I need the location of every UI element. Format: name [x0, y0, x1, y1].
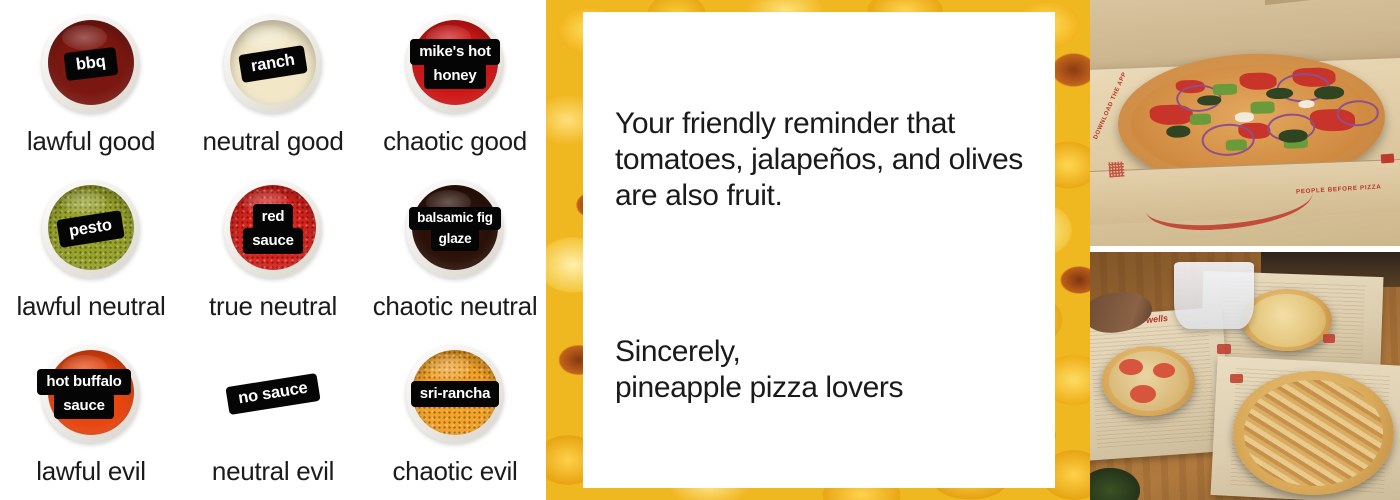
sauce-label-line: hot buffalo	[37, 369, 130, 395]
plant-foliage	[1090, 468, 1140, 500]
alignment-label: lawful evil	[0, 456, 182, 487]
liner-stamp-icon	[1230, 374, 1243, 383]
photo-three-pizzas-on-table: wells	[1090, 252, 1400, 500]
alignment-label: lawful neutral	[0, 291, 182, 322]
alignment-label: true neutral	[182, 291, 364, 322]
cup-body: sri-rancha	[406, 345, 504, 443]
brand-logo-icon	[1381, 153, 1395, 163]
cheese-pizza	[1242, 289, 1332, 351]
cup-body: ranch	[224, 15, 322, 113]
liner-stamp-icon	[1323, 334, 1335, 343]
alignment-label: neutral evil	[182, 456, 364, 487]
sauce-label: red sauce	[243, 204, 303, 255]
sauce-label-line: sri-rancha	[411, 381, 500, 407]
sauce-label: mike's hot honey	[410, 39, 500, 90]
topping-red-pepper	[1239, 72, 1277, 91]
sauce-cup-sri-rancha: sri-rancha	[364, 338, 546, 450]
pizza-topping-layer	[1248, 294, 1325, 347]
alignment-cell-chaotic-neutral: balsamic fig glaze chaotic neutral	[364, 165, 546, 330]
topping-green-pepper	[1190, 114, 1212, 125]
topping-green-pepper	[1251, 101, 1275, 114]
sauce-label-line: glaze	[431, 228, 480, 251]
topping-broccoli	[1314, 85, 1344, 99]
alignment-cell-chaotic-good: mike's hot honey chaotic good	[364, 0, 546, 165]
meme-text-card: Your friendly reminder that tomatoes, ja…	[583, 12, 1055, 488]
sauce-label-line: no sauce	[225, 373, 320, 415]
photo-veggie-pizza-in-box: PEOPLE BEFORE PIZZA DOWNLOAD THE APP	[1090, 0, 1400, 246]
sauce-label-line: balsamic fig	[409, 207, 501, 230]
alignment-grid: bbq lawful good ranch	[0, 0, 546, 500]
topping-feta	[1235, 112, 1254, 122]
sauce-cup-bbq: bbq	[0, 8, 182, 120]
sauce-label: no sauce	[225, 373, 320, 415]
sauce-cup-hot-buffalo-sauce: hot buffalo sauce	[0, 338, 182, 450]
pizza-topping-layer	[1244, 380, 1383, 487]
topping-tomato-slice	[1153, 363, 1175, 378]
topping-red-onion	[1336, 100, 1379, 127]
sauce-label-line: red	[253, 204, 294, 230]
meme-message-signature: Sincerely, pineapple pizza lovers	[615, 334, 1031, 406]
sauce-label-line: honey	[424, 63, 485, 89]
cup-body: balsamic fig glaze	[406, 180, 504, 278]
alignment-cell-neutral-evil: no sauce neutral evil	[182, 330, 364, 500]
alignment-label: chaotic evil	[364, 456, 546, 487]
sauce-cup-balsamic-fig-glaze: balsamic fig glaze	[364, 173, 546, 285]
plastic-drink-cup	[1174, 262, 1255, 329]
chicken-bacon-pizza	[1233, 371, 1394, 495]
sauce-cup-no-sauce: no sauce	[182, 338, 364, 450]
alignment-label: chaotic neutral	[364, 291, 546, 322]
meme-message-top: Your friendly reminder that tomatoes, ja…	[615, 106, 1031, 214]
cup-body: mike's hot honey	[406, 15, 504, 113]
sauce-label: hot buffalo sauce	[37, 369, 130, 420]
alignment-cell-lawful-evil: hot buffalo sauce lawful evil	[0, 330, 182, 500]
topping-green-pepper	[1213, 84, 1237, 95]
alignment-cell-lawful-good: bbq lawful good	[0, 0, 182, 165]
alignment-label: chaotic good	[364, 126, 546, 157]
sauce-cup-pesto: pesto	[0, 173, 182, 285]
cup-body: pesto	[42, 180, 140, 278]
topping-green-pepper	[1225, 139, 1247, 150]
alignment-cell-neutral-good: ranch neutral good	[182, 0, 364, 165]
sauce-label-line: sauce	[243, 228, 303, 254]
cup-body: bbq	[42, 15, 140, 113]
tomato-pizza	[1102, 346, 1195, 415]
alignment-label: lawful good	[0, 126, 182, 157]
sauce-label-line: mike's hot	[410, 39, 500, 65]
pizza-box-lid-notch	[1266, 0, 1322, 5]
meme-collage: bbq lawful good ranch	[0, 0, 1400, 500]
sauce-label: sri-rancha	[411, 381, 500, 407]
alignment-cell-chaotic-evil: sri-rancha chaotic evil	[364, 330, 546, 500]
sauce-label: balsamic fig glaze	[409, 207, 501, 251]
alignment-label: neutral good	[182, 126, 364, 157]
sauce-cup-mikes-hot-honey: mike's hot honey	[364, 8, 546, 120]
cup-body: red sauce	[224, 180, 322, 278]
alignment-cell-true-neutral: red sauce true neutral	[182, 165, 364, 330]
sauce-cup-ranch: ranch	[182, 8, 364, 120]
sauce-label-line: sauce	[54, 393, 114, 419]
alignment-cell-lawful-neutral: pesto lawful neutral	[0, 165, 182, 330]
pineapple-meme-panel: Your friendly reminder that tomatoes, ja…	[546, 0, 1090, 500]
pizza-photo-column: PEOPLE BEFORE PIZZA DOWNLOAD THE APP	[1090, 0, 1400, 500]
sauce-alignment-chart: bbq lawful good ranch	[0, 0, 546, 500]
liner-stamp-icon	[1217, 344, 1231, 354]
qr-code-icon	[1108, 162, 1124, 178]
cup-body: hot buffalo sauce	[42, 345, 140, 443]
sauce-cup-red-sauce: red sauce	[182, 173, 364, 285]
